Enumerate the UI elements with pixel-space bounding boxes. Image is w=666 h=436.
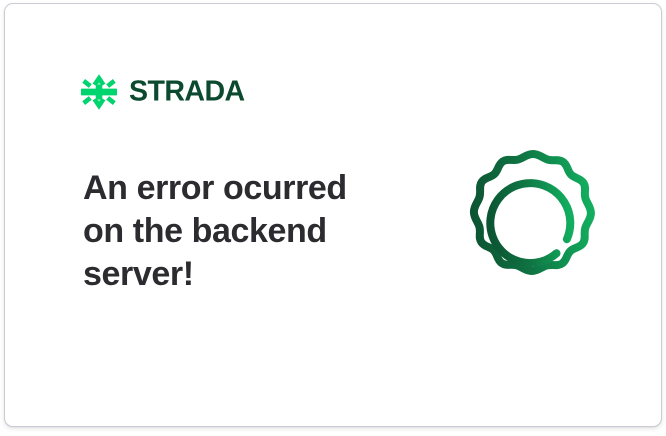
error-headline: An error ocurred on the backend server! (83, 167, 383, 296)
brand-wordmark-text: STRADA (129, 76, 245, 108)
brand-wordmark: STRADA (129, 76, 300, 108)
gear-illustration (448, 140, 618, 310)
strada-asterisk-icon (79, 72, 119, 112)
error-card: STRADA An error ocurred on the backend s… (4, 3, 662, 427)
gear-icon (448, 140, 618, 310)
screen: STRADA An error ocurred on the backend s… (0, 0, 666, 436)
brand-logo: STRADA (79, 72, 300, 112)
